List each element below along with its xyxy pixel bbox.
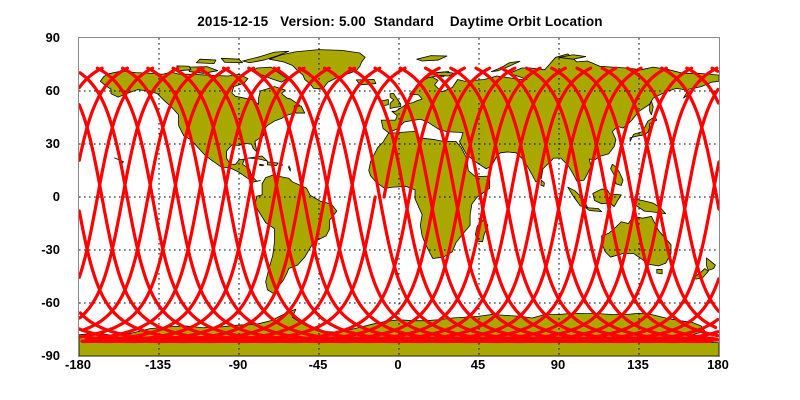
x-tick-m90: -90 — [208, 357, 268, 372]
x-tick-m180: -180 — [48, 357, 108, 372]
y-tick-90: 90 — [0, 30, 60, 45]
x-tick-45: 45 — [448, 357, 508, 372]
landmass-jamaica — [260, 164, 264, 165]
map-plot-area — [78, 37, 720, 357]
x-tick-m45: -45 — [288, 357, 348, 372]
y-tick-0: 0 — [0, 189, 60, 204]
world-map-svg — [79, 38, 719, 356]
page-title: 2015-12-15 Version: 5.00 Standard Daytim… — [0, 14, 800, 29]
x-tick-180: 180 — [688, 357, 748, 372]
x-tick-135: 135 — [608, 357, 668, 372]
orbit-location-figure: 2015-12-15 Version: 5.00 Standard Daytim… — [0, 0, 800, 400]
y-tick-m60: -60 — [0, 295, 60, 310]
x-tick-90: 90 — [528, 357, 588, 372]
x-tick-m135: -135 — [128, 357, 188, 372]
y-tick-30: 30 — [0, 136, 60, 151]
landmass-tasmania — [657, 269, 662, 273]
landmass-arctic-isl-2 — [196, 59, 216, 63]
y-tick-m30: -30 — [0, 242, 60, 257]
x-tick-0: 0 — [368, 357, 428, 372]
y-tick-60: 60 — [0, 83, 60, 98]
